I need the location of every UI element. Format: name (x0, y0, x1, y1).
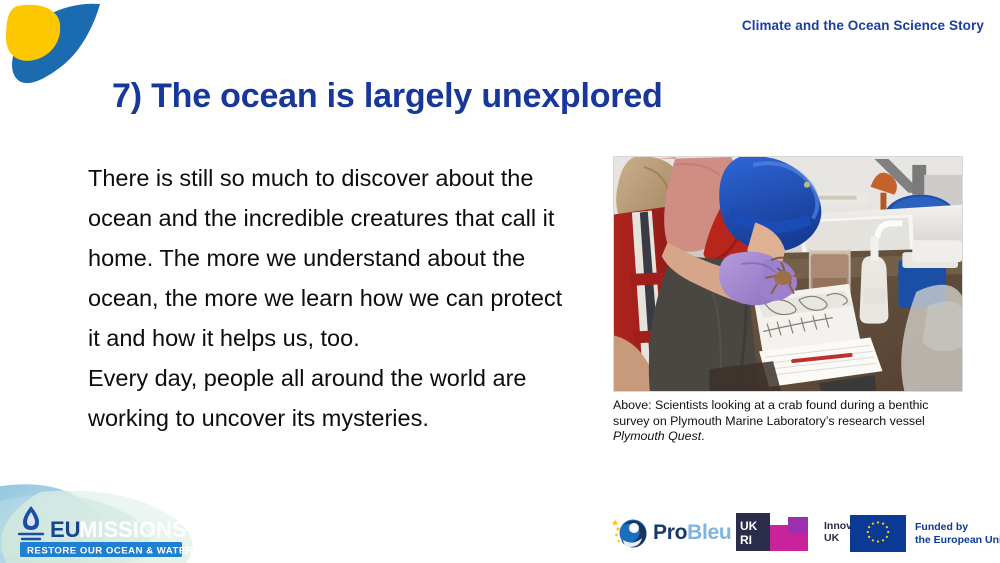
figure-caption-vessel: Plymouth Quest (613, 429, 701, 443)
eu-missions-strapline: RESTORE OUR OCEAN & WATERS (27, 546, 200, 557)
probleu-bleu-text: Bleu (687, 521, 731, 544)
page-title: 7) The ocean is largely unexplored (112, 77, 663, 116)
probleu-icon (612, 516, 648, 550)
slide-canvas: Climate and the Ocean Science Story 7) T… (0, 0, 1000, 563)
scientists-examining-crab-photo (613, 156, 963, 392)
eu-funding-logo: Funded by the European Union (850, 515, 1000, 552)
eu-flag-icon (850, 515, 906, 552)
eu-funding-text: Funded by the European Union (915, 521, 1000, 547)
ukri-mark-text-bottom: RI (740, 533, 752, 547)
eu-funding-line2: the European Union (915, 534, 1000, 547)
figure-caption-lead: Above: Scientists looking at a crab foun… (613, 398, 928, 428)
ukri-innovate-uk-logo: UK RI Innovate UK (736, 513, 867, 551)
body-paragraph-1: There is still so much to discover about… (88, 158, 568, 358)
brand-mark-logo (4, 0, 109, 108)
probleu-pro-text: Pro (653, 521, 687, 544)
eu-missions-eu-text: EU (50, 517, 81, 542)
probleu-wordmark: ProBleu (653, 521, 731, 545)
eu-funding-line1: Funded by (915, 521, 1000, 534)
body-paragraph-2: Every day, people all around the world a… (88, 358, 568, 438)
body-text-column: There is still so much to discover about… (88, 158, 568, 438)
ukri-mark-text-top: UK (740, 519, 758, 533)
ukri-mark: UK RI (736, 513, 816, 551)
eu-missions-logo: EU MISSIONS RESTORE OUR OCEAN & WATERS (0, 484, 205, 563)
header-eyebrow: Climate and the Ocean Science Story (742, 18, 984, 33)
eu-missions-missions-text: MISSIONS (79, 517, 187, 542)
figure-caption-end: . (701, 429, 704, 443)
probleu-logo: ProBleu (612, 516, 731, 550)
figure-image-container (613, 156, 963, 392)
figure-caption: Above: Scientists looking at a crab foun… (613, 398, 965, 445)
